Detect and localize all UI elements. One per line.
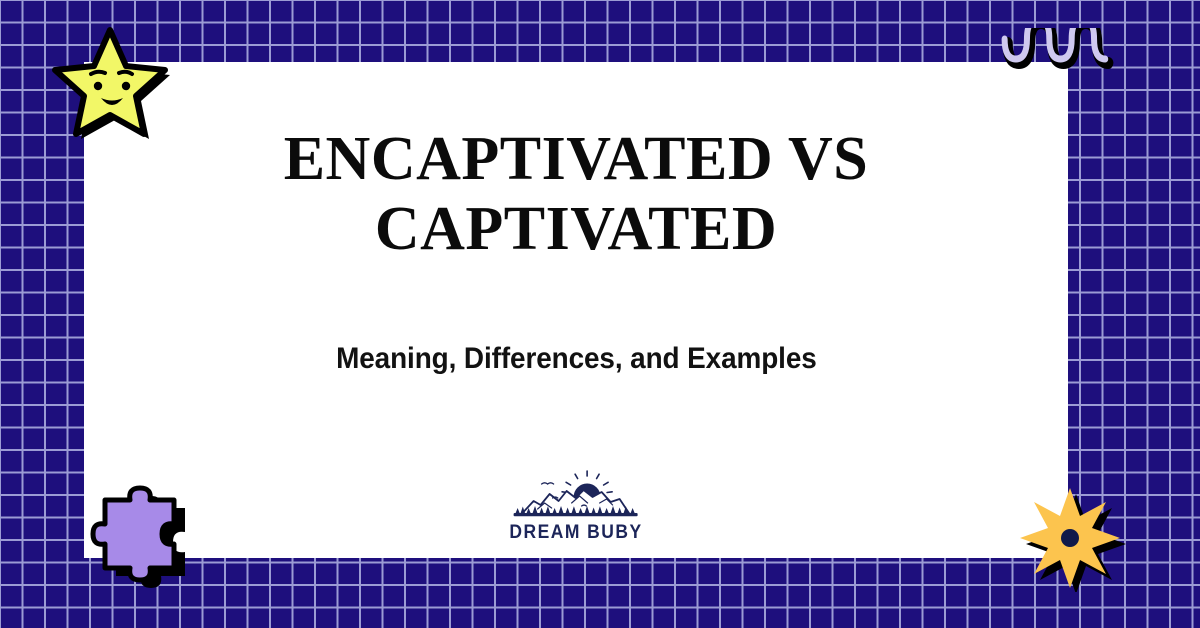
content-card: ENCAPTIVATED VS CAPTIVATED Meaning, Diff… xyxy=(84,62,1068,558)
brand-name: DREAM BUBY xyxy=(509,522,642,544)
poster-canvas: ENCAPTIVATED VS CAPTIVATED Meaning, Diff… xyxy=(0,0,1200,628)
page-title: ENCAPTIVATED VS CAPTIVATED xyxy=(166,124,986,264)
starburst-icon xyxy=(1014,482,1126,592)
smiling-star-icon xyxy=(48,22,174,148)
puzzle-piece-icon xyxy=(74,482,192,594)
page-subtitle: Meaning, Differences, and Examples xyxy=(336,342,817,376)
squiggle-icon xyxy=(995,28,1123,90)
mountain-sun-logo-icon xyxy=(512,470,640,520)
brand-logo: DREAM BUBY xyxy=(504,470,649,544)
